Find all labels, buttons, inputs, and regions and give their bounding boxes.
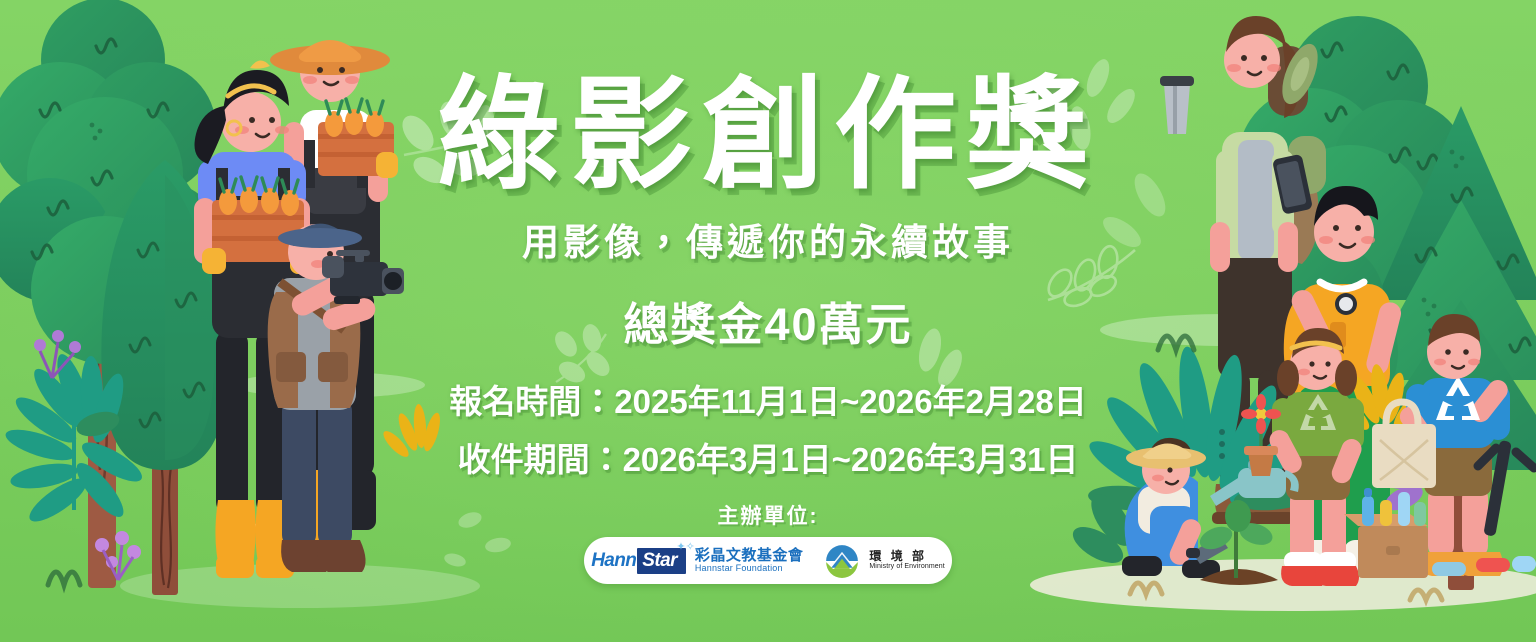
hannstar-name-en: Hannstar Foundation: [695, 564, 804, 573]
hannstar-mark-right: Star: [642, 550, 677, 571]
hannstar-names: 彩晶文教基金會 Hannstar Foundation: [695, 548, 804, 573]
banner-root: 綠影創作獎 用影像，傳遞你的永續故事 總獎金40萬元 報名時間：2025年11月…: [0, 0, 1536, 642]
hannstar-wordmark: Hann Star ✦✧: [591, 548, 686, 574]
sponsor-moenv[interactable]: 環 境 部 Ministry of Environment: [825, 544, 944, 578]
sponsor-hannstar[interactable]: Hann Star ✦✧ 彩晶文教基金會 Hannstar Foundation: [591, 548, 803, 574]
moenv-names: 環 境 部 Ministry of Environment: [869, 550, 944, 572]
sponsor-logo-bar: Hann Star ✦✧ 彩晶文教基金會 Hannstar Foundation: [584, 537, 952, 584]
wristwatch: [1335, 293, 1357, 315]
hannstar-mark-box: Star ✦✧: [637, 548, 686, 574]
moenv-name-en: Ministry of Environment: [869, 563, 944, 571]
ministry-of-environment-emblem-icon: [825, 544, 859, 578]
hannstar-mark-left: Hann: [591, 550, 636, 572]
hannstar-name-cn: 彩晶文教基金會: [695, 548, 804, 564]
moenv-name-cn: 環 境 部: [869, 550, 944, 564]
sparkle-icon: ✦✧: [676, 542, 694, 553]
